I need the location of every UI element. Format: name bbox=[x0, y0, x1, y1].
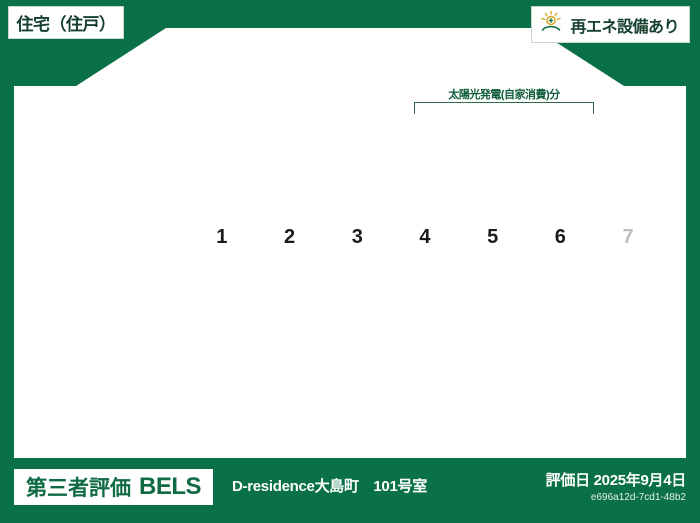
grade-number: 3 bbox=[326, 226, 388, 249]
grade-number: 1 bbox=[191, 226, 253, 249]
bels-certification-mark: 第三者評価 BELS bbox=[14, 469, 213, 505]
grade-number: 7 bbox=[597, 226, 659, 249]
building-type-tag: 住宅（住戸） bbox=[8, 6, 124, 39]
grade-number: 4 bbox=[394, 226, 456, 249]
building-name: D-residence大島町 101号室 bbox=[232, 475, 427, 496]
label-footer: 第三者評価 BELS D-residence大島町 101号室 評価日 2025… bbox=[0, 461, 700, 523]
renewable-badge-label: 再エネ設備あり bbox=[570, 13, 679, 37]
evaluation-id: e696a12d-7cd1-48b2 bbox=[546, 492, 686, 503]
grade-number: 6 bbox=[529, 226, 591, 249]
grade-number: 2 bbox=[259, 226, 321, 249]
evaluation-date: 評価日 2025年9月4日 bbox=[546, 469, 686, 490]
solar-annotation-bracket bbox=[414, 102, 594, 114]
bels-japanese-label: 第三者評価 bbox=[26, 472, 131, 502]
grade-number: 5 bbox=[462, 226, 524, 249]
solar-annotation-label: 太陽光発電(自家消費)分 bbox=[404, 86, 604, 102]
sun-icon bbox=[538, 9, 564, 40]
energy-performance-label: 住宅（住戸） 再エネ設備あり 建築物省エネ法に基づく 省エネ性能ラベル bbox=[0, 0, 700, 523]
renewable-equipment-badge: 再エネ設備あり bbox=[531, 6, 690, 43]
bels-english-label: BELS bbox=[139, 473, 201, 501]
building-type-label: 住宅（住戸） bbox=[17, 10, 116, 35]
evaluation-info: 評価日 2025年9月4日 e696a12d-7cd1-48b2 bbox=[546, 469, 686, 503]
